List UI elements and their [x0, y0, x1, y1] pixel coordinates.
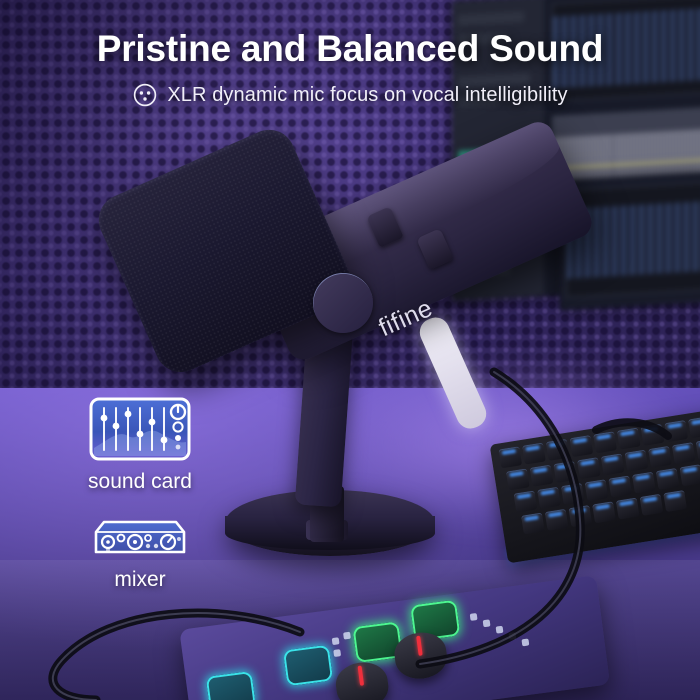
- pad-cyan-2: [283, 645, 333, 687]
- page-subtitle: XLR dynamic mic focus on vocal intelligi…: [167, 84, 567, 107]
- mic-rear-ring: [415, 313, 490, 433]
- secondary-monitor: [560, 172, 700, 310]
- callout-sound-card: sound card: [78, 396, 202, 494]
- pad-cyan-1: [206, 671, 256, 700]
- page-headline: Pristine and Balanced Sound: [0, 28, 700, 70]
- keyboard-keys: [498, 415, 700, 552]
- product-marketing-image: fifine: [0, 0, 700, 700]
- subtitle-row: XLR dynamic mic focus on vocal intelligi…: [0, 82, 700, 108]
- microphone: fifine: [120, 118, 550, 418]
- callout-label-mixer: mixer: [82, 568, 198, 592]
- mixer-icon: [90, 512, 190, 560]
- callout-label-sound-card: sound card: [78, 470, 202, 494]
- callout-mixer: mixer: [82, 512, 198, 592]
- xlr-connector-icon: [132, 82, 158, 108]
- knob-1: [333, 659, 391, 700]
- sound-card-icon: [88, 396, 192, 462]
